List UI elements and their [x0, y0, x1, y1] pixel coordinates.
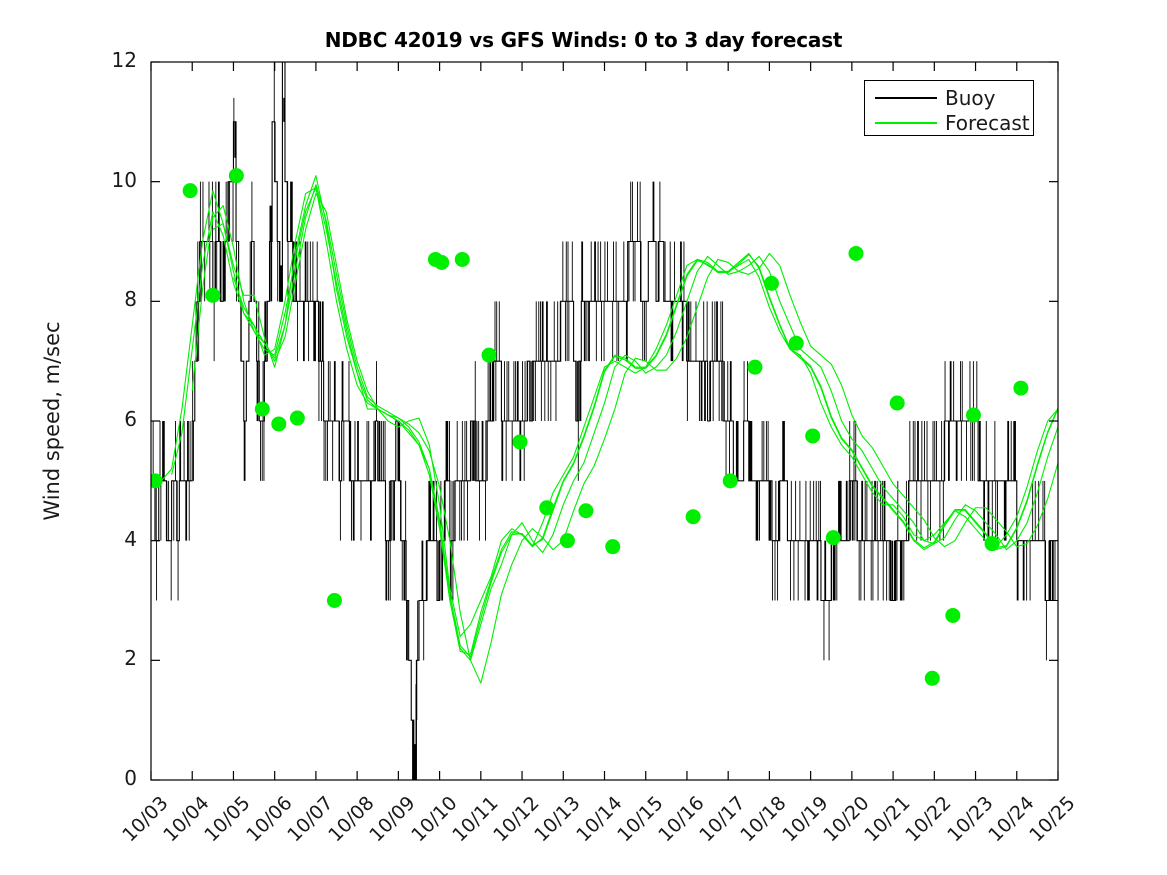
forecast-marker-dot [1013, 381, 1028, 396]
series-layer [151, 38, 1167, 840]
forecast-marker-dot [985, 536, 1000, 551]
forecast-marker-dot [290, 411, 305, 426]
forecast-line [172, 188, 1167, 676]
forecast-marker-dot [925, 671, 940, 686]
forecast-marker-dot [455, 252, 470, 267]
y-tick-label: 0 [77, 766, 137, 790]
forecast-marker-dot [605, 539, 620, 554]
forecast-marker-dot [686, 509, 701, 524]
forecast-marker-dot [945, 608, 960, 623]
forecast-marker-dot [255, 402, 270, 417]
forecast-marker-dot [271, 416, 286, 431]
forecast-marker-dot [229, 168, 244, 183]
forecast-marker-dot [890, 396, 905, 411]
forecast-marker-dot [723, 473, 738, 488]
y-tick-label: 2 [77, 646, 137, 670]
y-tick-label: 10 [77, 168, 137, 192]
buoy-subhour-variation [153, 38, 1167, 840]
forecast-marker-dot [512, 434, 527, 449]
chart-page: NDBC 42019 vs GFS Winds: 0 to 3 day fore… [0, 0, 1167, 875]
forecast-marker-dot [148, 473, 163, 488]
forecast-marker-dot [966, 408, 981, 423]
legend-label: Buoy [945, 85, 995, 111]
y-tick-label: 8 [77, 287, 137, 311]
legend-line-swatch [875, 122, 937, 124]
legend-label: Forecast [945, 110, 1030, 136]
forecast-line [213, 188, 1167, 674]
y-tick-label: 6 [77, 407, 137, 431]
forecast-marker-dot [205, 288, 220, 303]
legend: BuoyForecast [864, 80, 1034, 136]
forecast-marker-dot [764, 276, 779, 291]
forecast-marker-dot [482, 348, 497, 363]
legend-item-buoy[interactable]: Buoy [865, 85, 1033, 111]
forecast-marker-dot [826, 530, 841, 545]
forecast-marker-dot [578, 503, 593, 518]
forecast-marker-dot [789, 336, 804, 351]
forecast-marker-dot [848, 246, 863, 261]
legend-line-swatch [875, 97, 937, 99]
forecast-marker-dot [805, 428, 820, 443]
forecast-marker-dot [539, 500, 554, 515]
forecast-marker-dot [560, 533, 575, 548]
forecast-marker-dot [747, 360, 762, 375]
y-tick-label: 4 [77, 527, 137, 551]
forecast-marker-dot [183, 183, 198, 198]
forecast-marker-dot [327, 593, 342, 608]
forecast-marker-dot [434, 255, 449, 270]
y-tick-label: 12 [77, 48, 137, 72]
forecast-line [192, 194, 1167, 683]
legend-item-forecast[interactable]: Forecast [865, 110, 1033, 136]
